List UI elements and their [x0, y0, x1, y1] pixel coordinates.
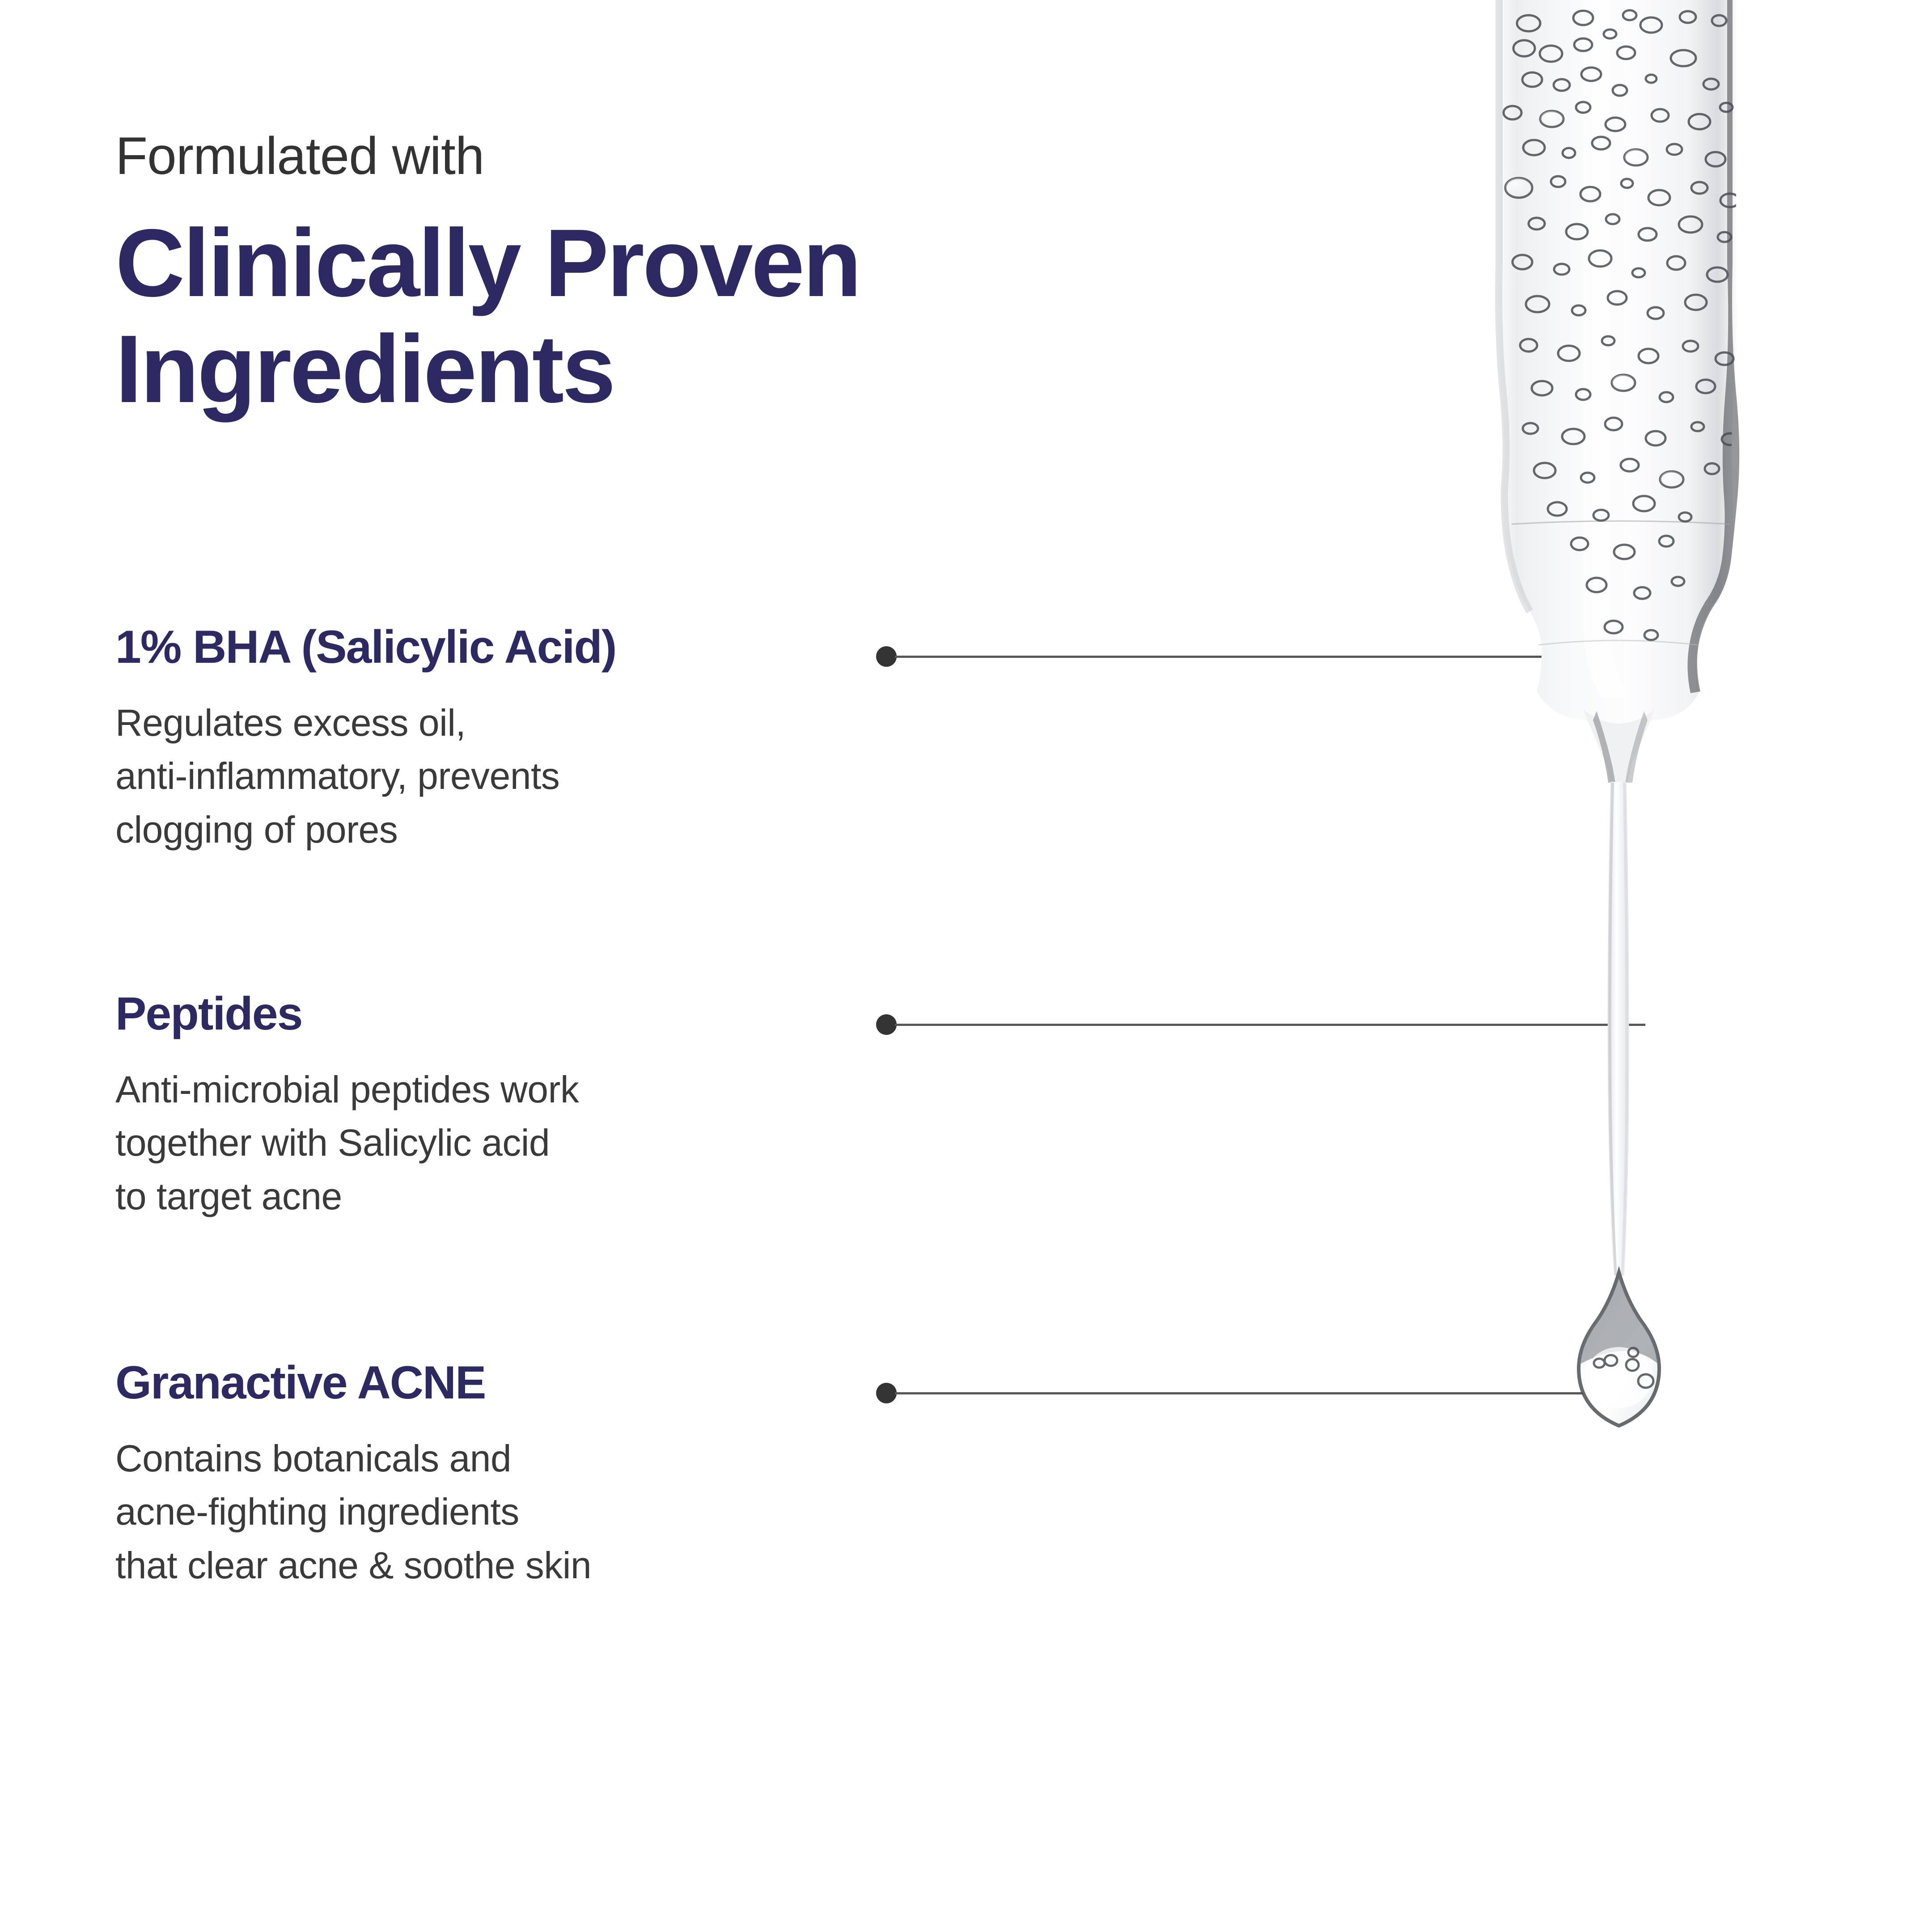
gel-droplet	[1579, 1272, 1659, 1426]
gel-thread	[1608, 782, 1629, 1275]
ingredient-block-granactive-acne: Granactive ACNE Contains botanicals and …	[115, 1360, 840, 1592]
eyebrow-label: Formulated with	[115, 130, 484, 182]
description-line: to target acne	[115, 1170, 840, 1223]
ingredient-description: Regulates excess oil, anti-inflammatory,…	[115, 696, 840, 856]
page-title: Clinically Proven Ingredients	[115, 210, 860, 422]
serum-gel-image	[1449, 0, 1789, 1453]
serum-gel-illustration	[1449, 0, 1789, 1453]
leader-dot-icon	[876, 646, 897, 667]
leader-dot-icon	[876, 1383, 897, 1403]
ingredient-description: Anti-microbial peptides work together wi…	[115, 1063, 840, 1223]
ingredient-description: Contains botanicals and acne-fighting in…	[115, 1432, 840, 1592]
description-line: clogging of pores	[115, 803, 840, 856]
ingredient-title: 1% BHA (Salicylic Acid)	[115, 624, 840, 670]
gel-column	[1495, 0, 1739, 724]
ingredient-block-bha: 1% BHA (Salicylic Acid) Regulates excess…	[115, 624, 840, 856]
headline-line-2: Ingredients	[115, 316, 860, 422]
ingredient-title: Peptides	[115, 991, 840, 1037]
ingredient-block-peptides: Peptides Anti-microbial peptides work to…	[115, 991, 840, 1223]
description-line: that clear acne & soothe skin	[115, 1539, 840, 1592]
leader-dot-icon	[876, 1014, 897, 1035]
description-line: Regulates excess oil,	[115, 696, 840, 750]
description-line: anti-inflammatory, prevents	[115, 750, 840, 803]
headline-line-1: Clinically Proven	[115, 210, 860, 316]
ingredient-title: Granactive ACNE	[115, 1360, 840, 1406]
description-line: together with Salicylic acid	[115, 1116, 840, 1169]
description-line: Contains botanicals and	[115, 1432, 840, 1485]
leader-rule	[895, 656, 1542, 658]
description-line: acne-fighting ingredients	[115, 1485, 840, 1538]
description-line: Anti-microbial peptides work	[115, 1063, 840, 1116]
